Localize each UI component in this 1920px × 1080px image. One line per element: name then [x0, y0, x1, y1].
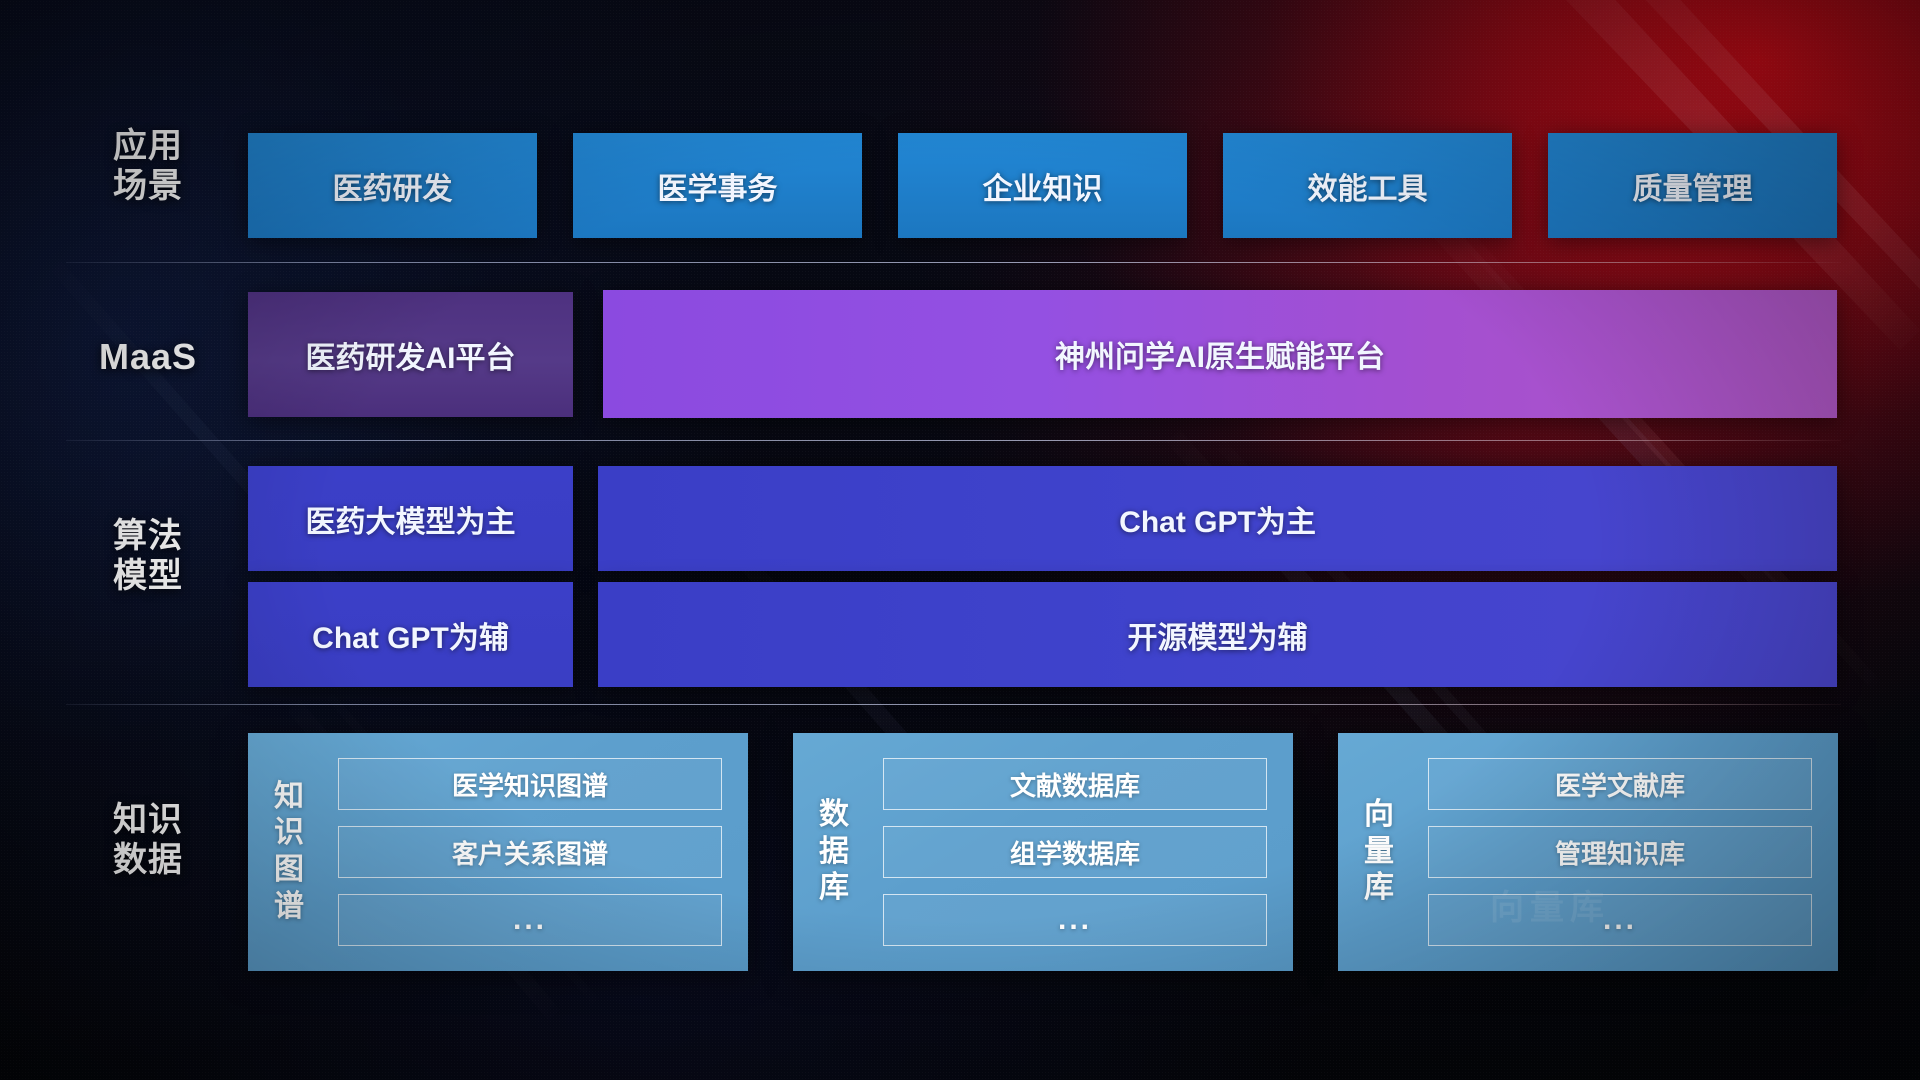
vignette-overlay: [0, 0, 1920, 1080]
infographic-canvas: 应用 场景 医药研发 医学事务 企业知识 效能工具 质量管理 MaaS 医药研发…: [0, 0, 1920, 1080]
